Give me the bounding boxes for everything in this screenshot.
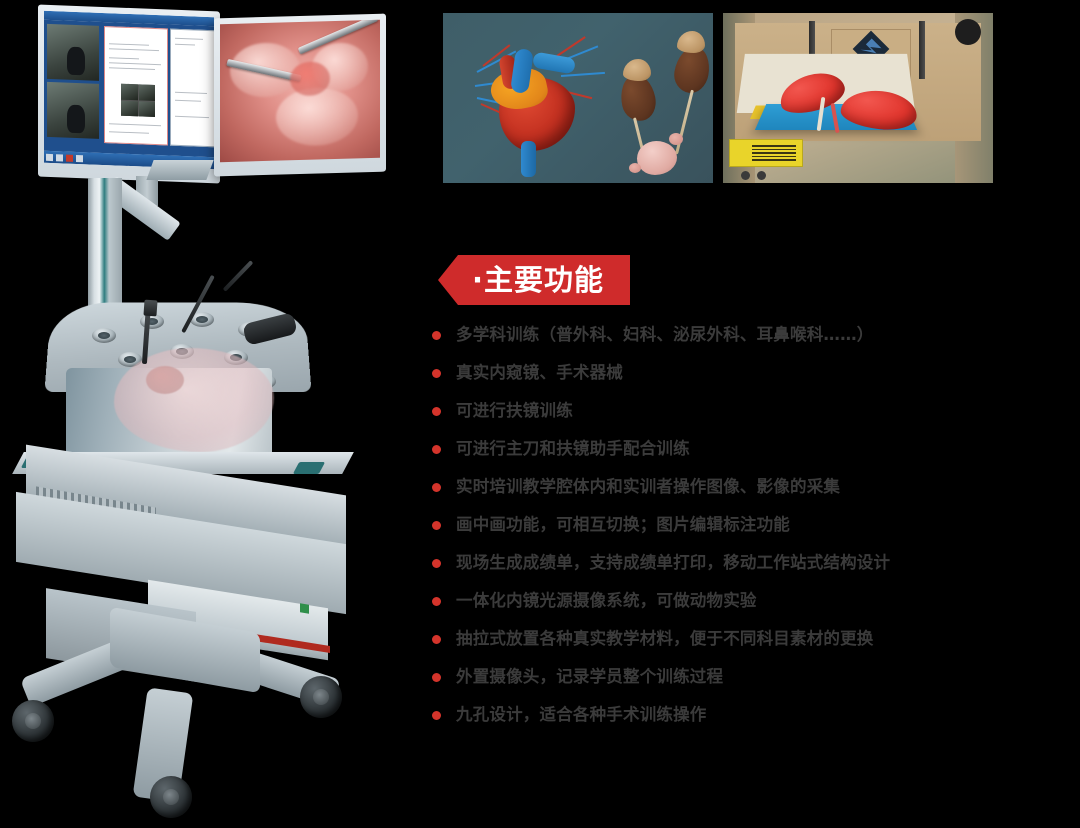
- feature-item: 九孔设计，适合各种手术训练操作: [430, 705, 1070, 725]
- power-led: [300, 603, 309, 613]
- training-software-screen: [44, 11, 214, 170]
- feature-item: 真实内窥镜、手术器械: [430, 363, 1070, 383]
- feature-item: 外置摄像头，记录学员整个训练过程: [430, 667, 1070, 687]
- printer-warning-label: [729, 139, 803, 167]
- features-banner: ·主要功能: [438, 255, 630, 305]
- caster-wheel: [300, 676, 342, 718]
- feature-item: 可进行扶镜训练: [430, 401, 1070, 421]
- endoscope-monitor: [214, 14, 386, 177]
- feature-list: 多学科训练（普外科、妇科、泌尿外科、耳鼻喉科……） 真实内窥镜、手术器械 可进行…: [430, 325, 1070, 725]
- feature-item: 现场生成成绩单，支持成绩单打印，移动工作站式结构设计: [430, 553, 1070, 573]
- photo-3d-printer: CREATOR: [723, 13, 993, 183]
- software-monitor: [38, 5, 220, 184]
- feature-item: 实时培训教学腔体内和实训者操作图像、影像的采集: [430, 477, 1070, 497]
- instrument-handle: [143, 300, 157, 317]
- feature-item: 画中画功能，可相互切换；图片编辑标注功能: [430, 515, 1070, 535]
- feature-item: 抽拉式放置各种真实教学材料，便于不同科目素材的更换: [430, 629, 1070, 649]
- monitor-arm: [146, 160, 213, 180]
- feature-item: 可进行主刀和扶镜助手配合训练: [430, 439, 1070, 459]
- instrument-shaft: [223, 260, 254, 292]
- camera-feed-1: [47, 24, 99, 81]
- camera-feed-2: [47, 82, 99, 139]
- caster-wheel: [150, 776, 192, 818]
- heart-model-illustration: [461, 41, 611, 161]
- feature-item: 多学科训练（普外科、妇科、泌尿外科、耳鼻喉科……）: [430, 325, 1070, 345]
- features-banner-label: ·主要功能: [472, 263, 604, 297]
- report-panel: [104, 26, 168, 145]
- organ-model-overlay: [114, 348, 274, 452]
- detail-panel: [170, 29, 214, 148]
- photo-anatomy-models: [443, 13, 713, 183]
- feature-item: 一体化内镜光源摄像系统，可做动物实验: [430, 591, 1070, 611]
- simulator-cart: [0, 0, 430, 828]
- features-section: ·主要功能 多学科训练（普外科、妇科、泌尿外科、耳鼻喉科……） 真实内窥镜、手术…: [430, 255, 1070, 743]
- caster-wheel: [12, 700, 54, 742]
- endoscope-view: [220, 20, 380, 162]
- trocar-port: [92, 328, 116, 343]
